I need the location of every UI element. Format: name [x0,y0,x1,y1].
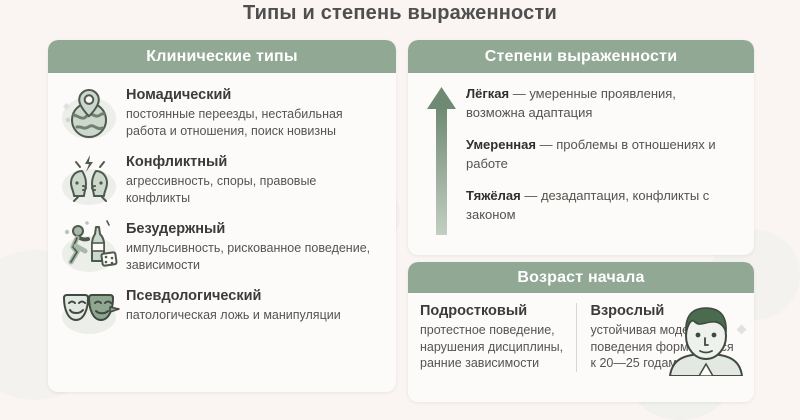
list-item-text: Конфликтный агрессивность, споры, правов… [120,151,376,206]
severity-dash: — [509,86,529,101]
age-column-title: Подростковый [420,303,568,319]
severity-list: Лёгкая — умеренные проявления, возможна … [462,85,744,238]
severity-body: Лёгкая — умеренные проявления, возможна … [408,73,754,238]
severity-dash: — [536,137,556,152]
severity-line: Тяжёлая — дезадаптация, конфликты с зако… [466,187,731,224]
clinical-types-card: Клинические типы Номадический постоянные… [48,40,396,392]
arguing-heads-icon [58,151,120,209]
list-item: Умеренная — проблемы в отношениях и рабо… [466,136,744,173]
list-item-description: патологическая ложь и манипуляции [126,307,341,324]
list-item: Номадический постоянные переезды, нестаб… [48,79,396,146]
person-face-icon [660,302,752,376]
clinical-types-header: Клинические типы [48,40,396,73]
severity-name: Тяжёлая [466,188,521,203]
severity-card: Степени выраженности Лёгкая — умеренные … [408,40,754,255]
up-arrow-icon [422,85,462,235]
list-item-description: агрессивность, споры, правовые конфликты [126,173,376,206]
severity-line: Умеренная — проблемы в отношениях и рабо… [466,136,731,173]
theatre-masks-icon [58,285,120,343]
list-item: Лёгкая — умеренные проявления, возможна … [466,85,744,122]
severity-header: Степени выраженности [408,40,754,73]
age-of-onset-header: Возраст начала [408,262,754,293]
age-of-onset-body: Подростковый протестное поведение, наруш… [408,293,754,372]
list-item-description: импульсивность, рискованное поведение, з… [126,240,376,273]
age-of-onset-card: Возраст начала Подростковый протестное п… [408,262,754,402]
list-item-description: постоянные переезды, нестабильная работа… [126,106,376,139]
list-item: Тяжёлая — дезадаптация, конфликты с зако… [466,187,744,224]
list-item-title: Конфликтный [126,154,376,171]
list-item-text: Безудержный импульсивность, рискованное … [120,218,376,273]
severity-dash: — [521,188,541,203]
clinical-types-list: Номадический постоянные переезды, нестаб… [48,73,396,347]
list-item: Псевдологический патологическая ложь и м… [48,280,396,347]
list-item: Безудержный импульсивность, рискованное … [48,213,396,280]
globe-pin-icon [58,84,120,142]
running-man-bottle-dice-icon [58,218,120,276]
severity-name: Умеренная [466,137,536,152]
severity-line: Лёгкая — умеренные проявления, возможна … [466,85,731,122]
list-item-title: Псевдологический [126,288,341,305]
age-column-description: протестное поведение, нарушения дисципли… [420,322,568,372]
list-item-title: Номадический [126,87,376,104]
age-column-adolescent: Подростковый протестное поведение, наруш… [420,303,576,372]
list-item-text: Номадический постоянные переезды, нестаб… [120,84,376,139]
list-item-title: Безудержный [126,221,376,238]
list-item: Конфликтный агрессивность, споры, правов… [48,146,396,213]
page-title: Типы и степень выраженности [0,2,800,25]
list-item-text: Псевдологический патологическая ложь и м… [120,285,341,324]
severity-name: Лёгкая [466,86,509,101]
